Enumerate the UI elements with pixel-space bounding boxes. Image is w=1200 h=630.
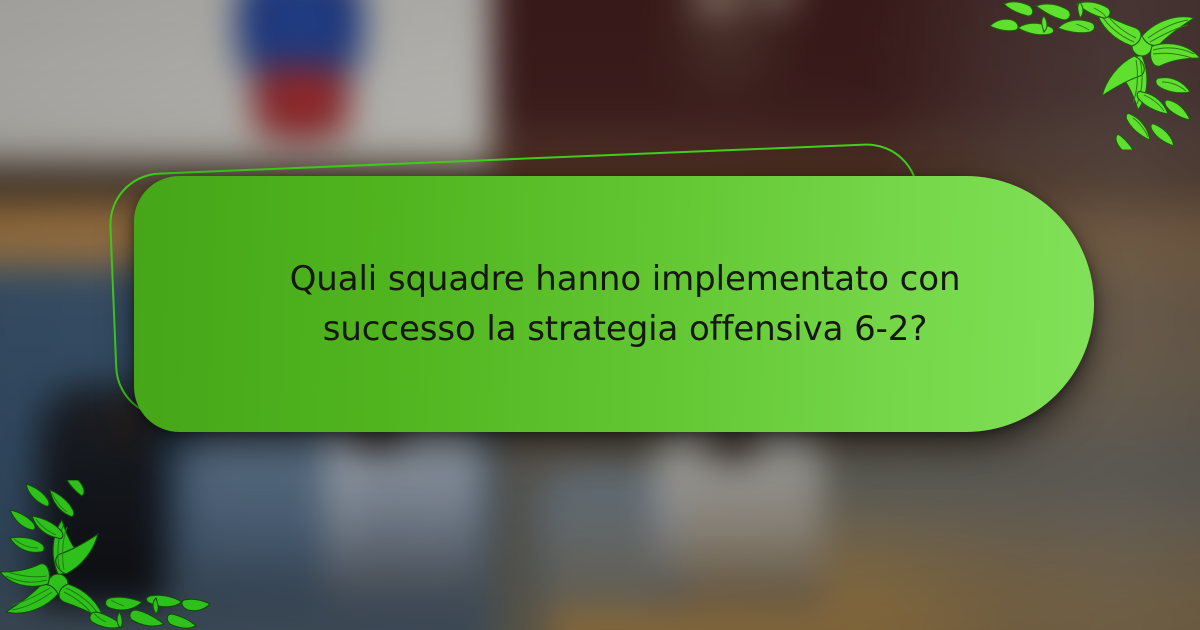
floral-ornament-icon-bottom-left bbox=[0, 480, 210, 630]
quote-text: Quali squadre hanno implementato con suc… bbox=[275, 254, 975, 355]
floral-ornament-icon-top-right bbox=[990, 0, 1200, 150]
quote-card: Quali squadre hanno implementato con suc… bbox=[134, 176, 1094, 432]
quote-card-canvas: Quali squadre hanno implementato con suc… bbox=[0, 0, 1200, 630]
